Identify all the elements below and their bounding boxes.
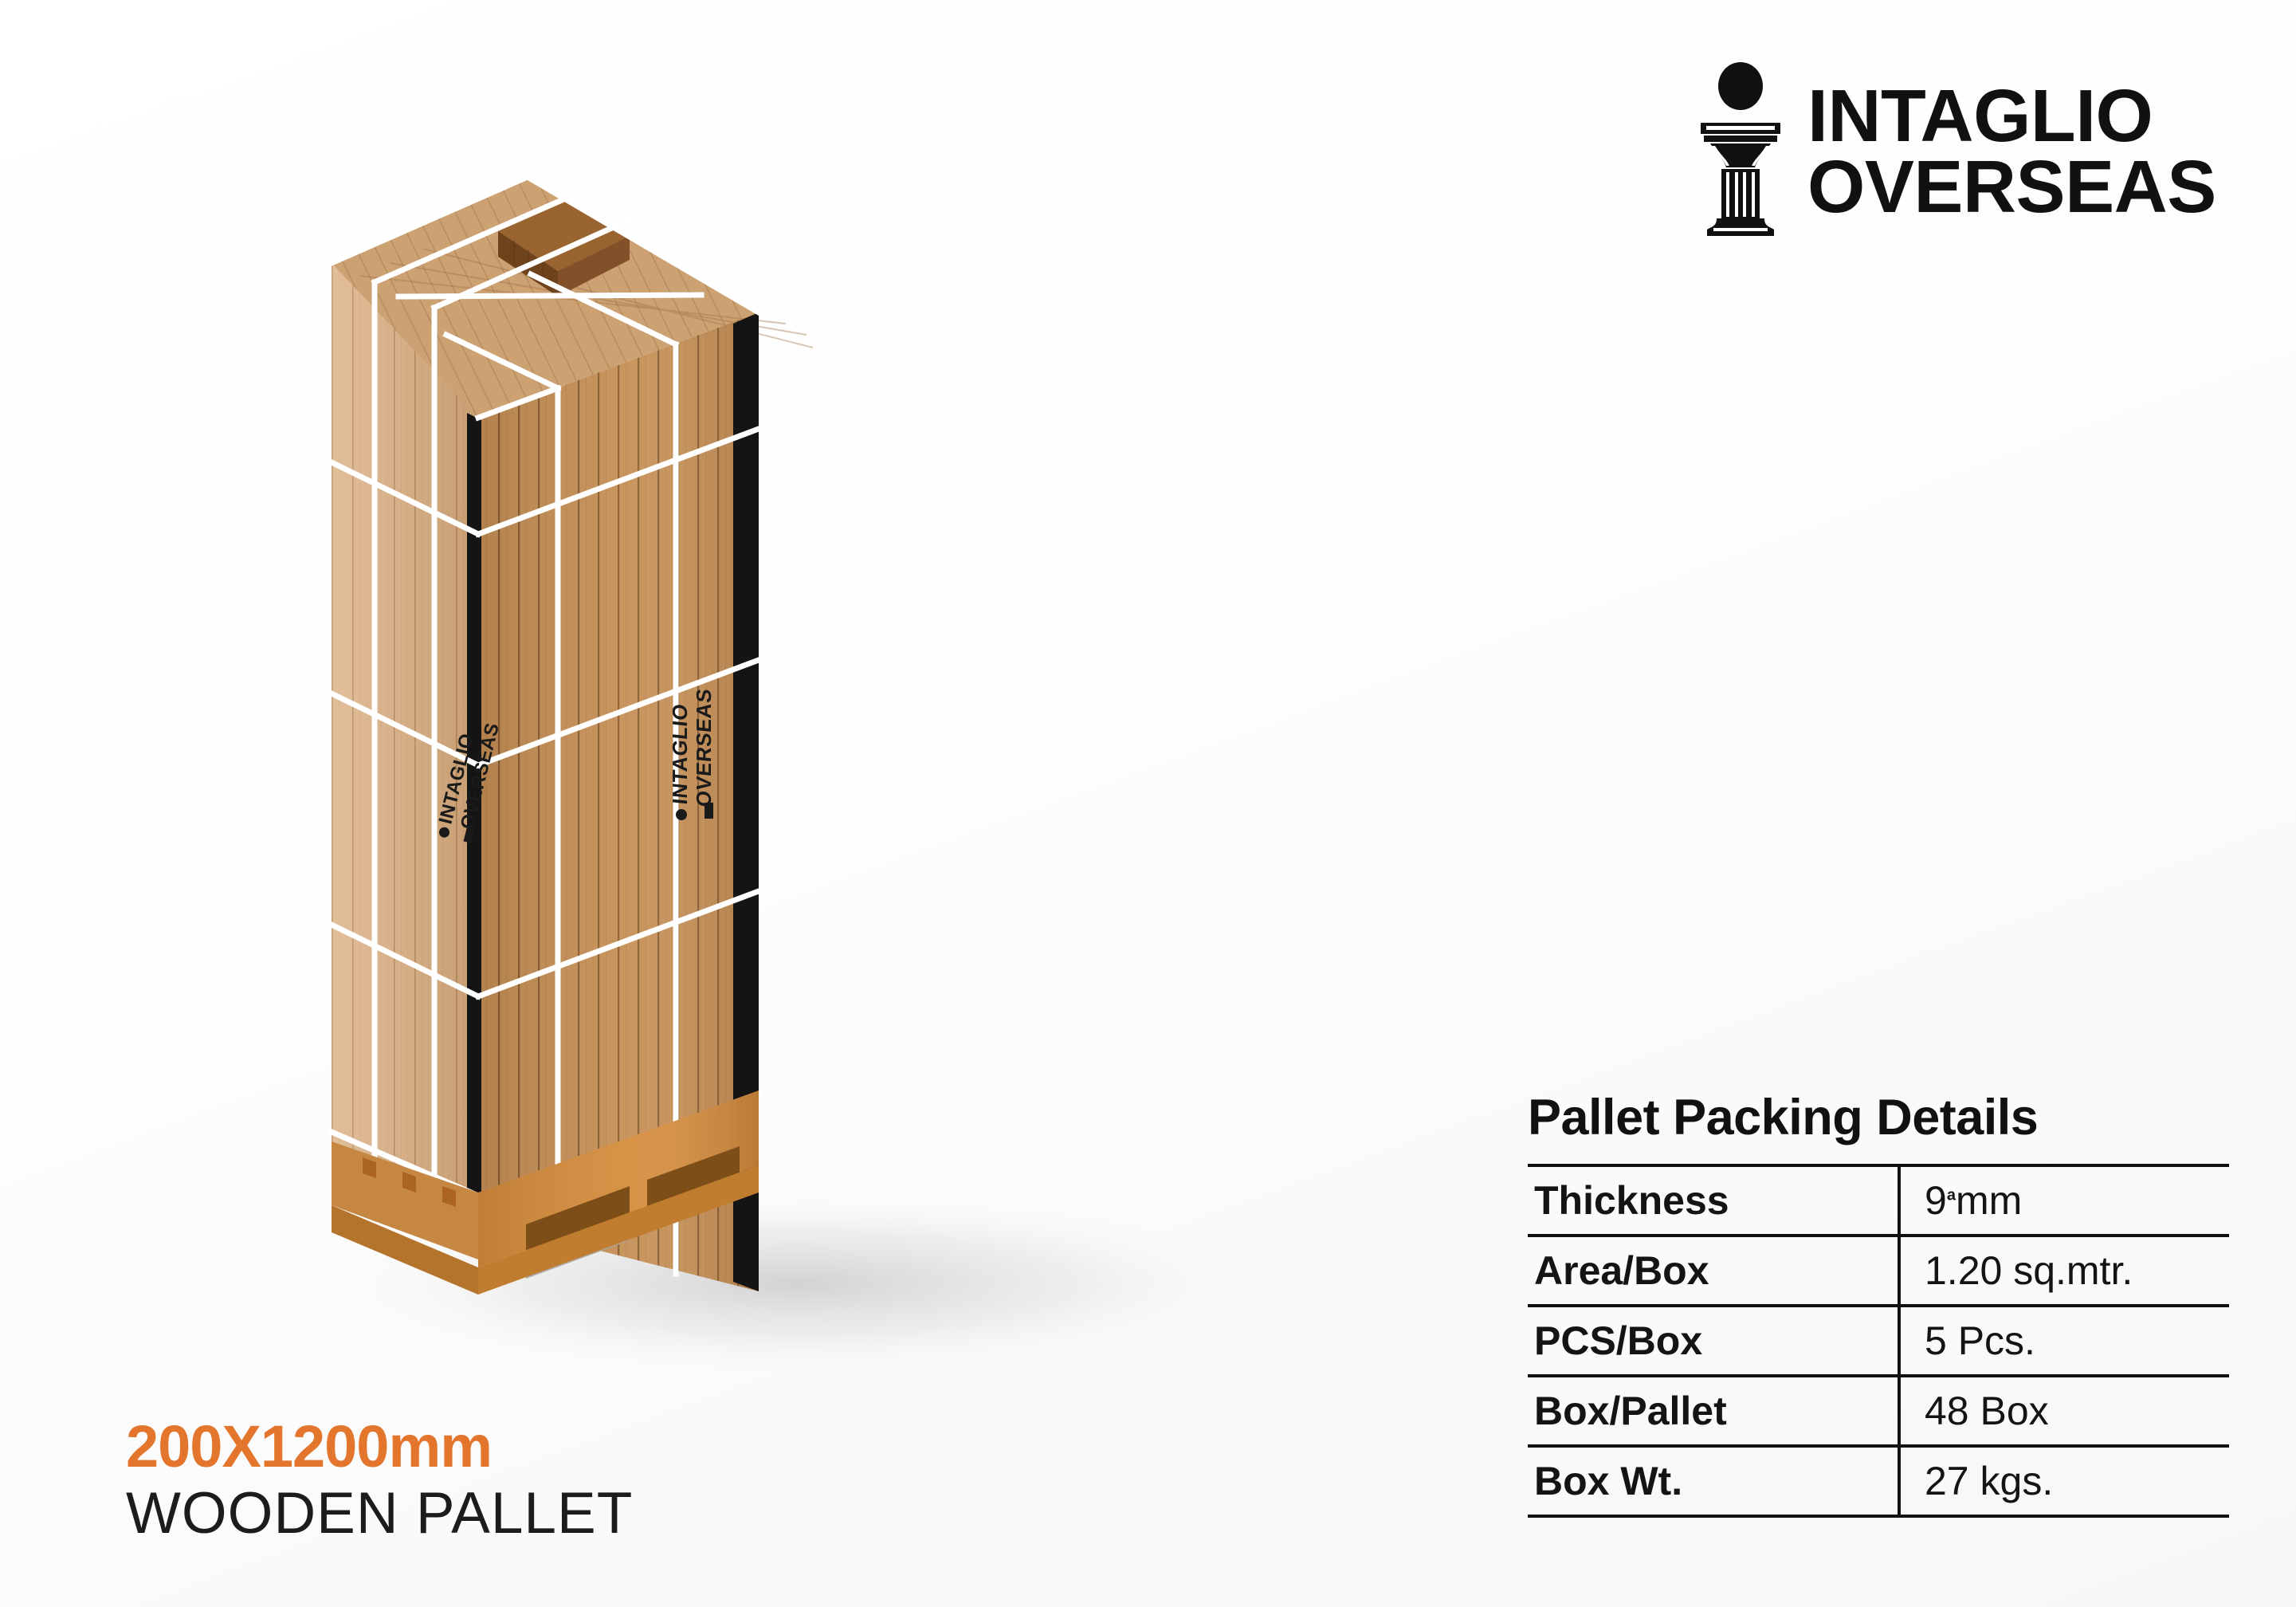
spec-table-body: Thickness 9amm Area/Box 1.20 sq.mtr. PCS… — [1528, 1165, 2229, 1516]
spec-value: 27 kgs. — [1899, 1446, 2229, 1516]
product-name-label: WOODEN PALLET — [126, 1481, 633, 1546]
logo-line-2: OVERSEAS — [1807, 151, 2216, 222]
logo-wordmark: INTAGLIO OVERSEAS — [1807, 81, 2216, 223]
table-row: Thickness 9amm — [1528, 1165, 2229, 1236]
pallet-packing-details-panel: Pallet Packing Details Thickness 9amm Ar… — [1528, 1089, 2229, 1518]
spec-value-superscript: a — [1947, 1186, 1956, 1204]
logo-line-1: INTAGLIO — [1807, 81, 2216, 151]
spec-table: Thickness 9amm Area/Box 1.20 sq.mtr. PCS… — [1528, 1164, 2229, 1518]
svg-text:INTAGLIO: INTAGLIO — [668, 702, 692, 805]
wooden-pallet-illustration: INTAGLIO OVERSEAS INTAGLIO OVERSEAS — [0, 0, 1474, 1435]
spec-value: 9amm — [1899, 1165, 2229, 1236]
stack-brand-left: INTAGLIO OVERSEAS — [668, 687, 716, 820]
poster-canvas: INTAGLIO OVERSEAS INTAGLIO OVERSEAS — [0, 0, 2296, 1607]
column-pillar-icon — [1696, 62, 1785, 241]
spec-value-unit: mm — [1956, 1178, 2022, 1223]
spec-value: 5 Pcs. — [1899, 1306, 2229, 1376]
spec-value: 48 Box — [1899, 1376, 2229, 1446]
product-caption: 200X1200mm WOODEN PALLET — [126, 1417, 633, 1546]
spec-key: PCS/Box — [1528, 1306, 1899, 1376]
spec-key: Thickness — [1528, 1165, 1899, 1236]
table-row: PCS/Box 5 Pcs. — [1528, 1306, 2229, 1376]
product-size-label: 200X1200mm — [126, 1417, 633, 1476]
spec-key: Area/Box — [1528, 1236, 1899, 1306]
spec-value-number: 9 — [1925, 1178, 1947, 1223]
spec-key: Box Wt. — [1528, 1446, 1899, 1516]
table-row: Box/Pallet 48 Box — [1528, 1376, 2229, 1446]
svg-text:OVERSEAS: OVERSEAS — [692, 687, 716, 808]
spec-value: 1.20 sq.mtr. — [1899, 1236, 2229, 1306]
brand-logo: INTAGLIO OVERSEAS — [1696, 62, 2216, 241]
table-row: Area/Box 1.20 sq.mtr. — [1528, 1236, 2229, 1306]
table-row: Box Wt. 27 kgs. — [1528, 1446, 2229, 1516]
spec-key: Box/Pallet — [1528, 1376, 1899, 1446]
panel-title: Pallet Packing Details — [1528, 1089, 2229, 1146]
